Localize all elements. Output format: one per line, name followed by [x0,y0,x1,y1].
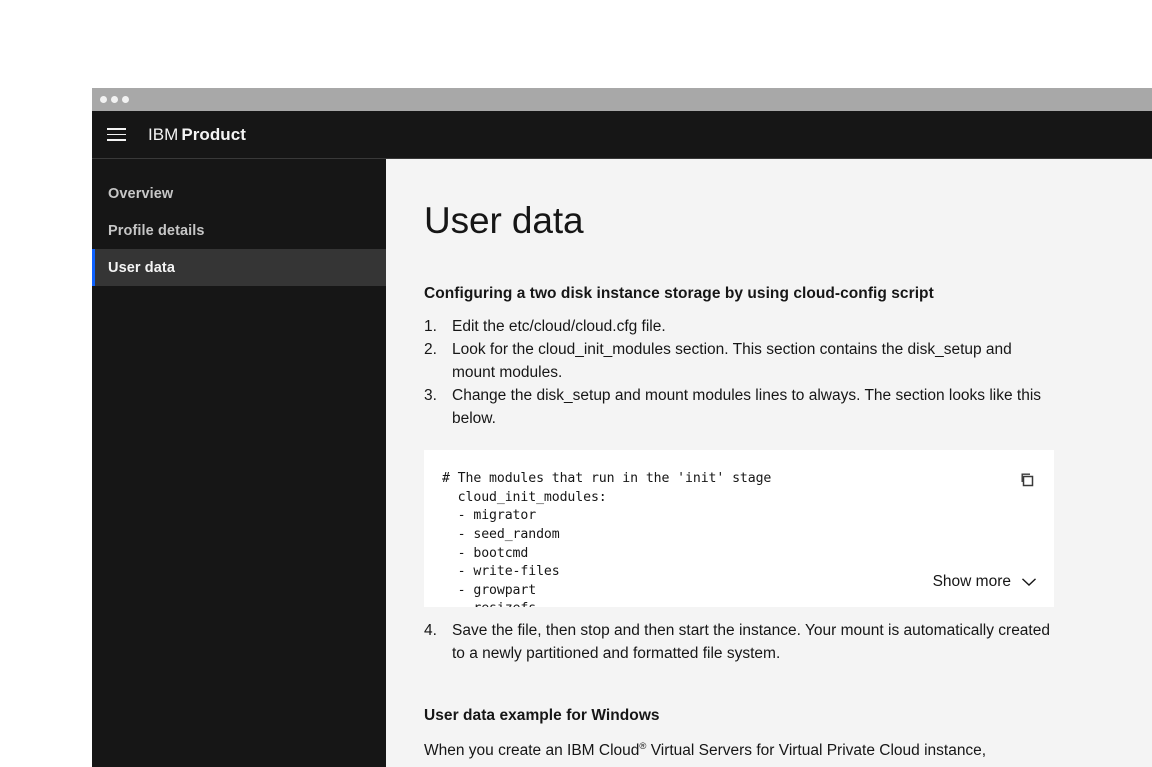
window-body: Overview Profile details User data User … [92,159,1152,767]
hamburger-line-1 [107,128,126,130]
brand-prefix: IBM [148,125,178,144]
window-dot-maximize[interactable] [122,96,129,103]
app-window: IBMProduct Overview Profile details User… [92,88,1152,767]
list-item: 1. Edit the etc/cloud/cloud.cfg file. [424,315,1059,338]
sidebar-item-label: Overview [108,186,173,202]
hamburger-line-3 [107,139,126,141]
list-item: 3. Change the disk_setup and mount modul… [424,384,1059,430]
sidebar-item-label: Profile details [108,223,205,239]
window-chrome-bar[interactable] [92,88,1152,111]
sidebar-item-label: User data [108,260,175,276]
list-item: 4. Save the file, then stop and then sta… [424,619,1059,665]
windows-example-paragraph: When you create an IBM Cloud® Virtual Se… [424,739,1059,762]
step-text: Look for the cloud_init_modules section.… [452,338,1059,384]
step-number: 4. [424,619,442,665]
brand-title[interactable]: IBMProduct [148,125,246,145]
section-heading-windows-example: User data example for Windows [424,707,1152,725]
step-text: Edit the etc/cloud/cloud.cfg file. [452,315,1059,338]
page-title: User data [424,199,1152,243]
code-snippet-block: # The modules that run in the 'init' sta… [424,450,1054,607]
page-root: IBMProduct Overview Profile details User… [0,0,1152,767]
list-item: 2. Look for the cloud_init_modules secti… [424,338,1059,384]
sidebar-nav: Overview Profile details User data [92,159,386,767]
step-number: 3. [424,384,442,430]
sidebar-item-user-data[interactable]: User data [92,249,386,286]
step-number: 1. [424,315,442,338]
app-header: IBMProduct [92,111,1152,159]
copy-icon-glyph [1019,471,1036,488]
window-dot-minimize[interactable] [111,96,118,103]
section-heading-cloud-config: Configuring a two disk instance storage … [424,285,1152,303]
sidebar-item-profile-details[interactable]: Profile details [92,212,386,249]
hamburger-line-2 [107,134,126,136]
show-more-button[interactable]: Show more [919,567,1042,597]
hamburger-menu-icon[interactable] [92,111,140,158]
paragraph-prefix: When you create an IBM Cloud [424,742,639,759]
steps-list-continued: 4. Save the file, then stop and then sta… [424,619,1152,665]
step-text: Save the file, then stop and then start … [452,619,1059,665]
steps-list: 1. Edit the etc/cloud/cloud.cfg file. 2.… [424,315,1152,430]
step-number: 2. [424,338,442,384]
copy-icon[interactable] [1010,462,1044,496]
step-text: Change the disk_setup and mount modules … [452,384,1059,430]
sidebar-item-overview[interactable]: Overview [92,175,386,212]
brand-name: Product [181,125,246,144]
show-more-label: Show more [933,573,1011,591]
window-dot-close[interactable] [100,96,107,103]
content-pane: User data Configuring a two disk instanc… [386,159,1152,767]
paragraph-suffix: Virtual Servers for Virtual Private Clou… [646,742,986,759]
chevron-down-icon [1022,578,1036,587]
